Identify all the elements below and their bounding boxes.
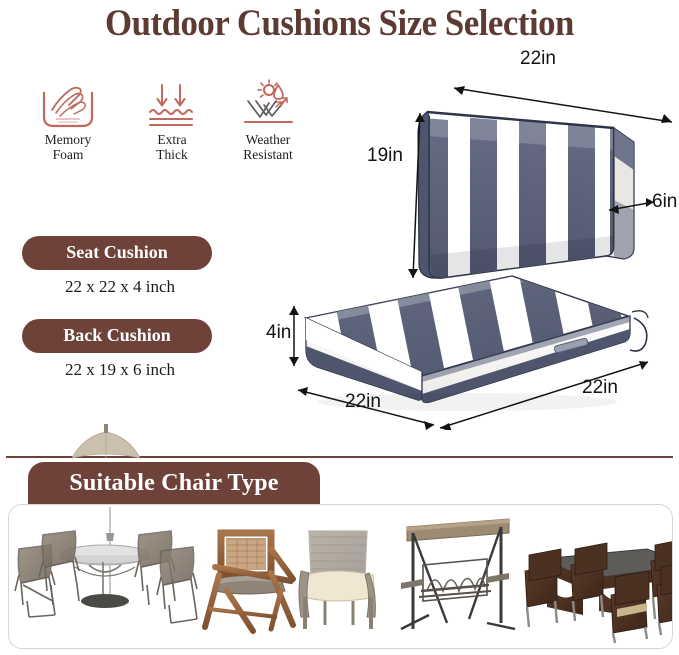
size-list: Seat Cushion 22 x 22 x 4 inch Back Cushi… [22,236,232,380]
dimension-label-seat-width: 22in [345,391,381,413]
canopy-porch-swing [401,519,515,629]
patio-dining-set-with-umbrella [15,507,197,623]
infographic-page: Outdoor Cushions Size Selection Memory F… [0,0,679,655]
feature-label: Memory Foam [18,132,118,162]
dimension-label-seat-depth: 22in [582,377,618,399]
feature-memory-foam: Memory Foam [18,76,118,162]
dimension-label-seat-thickness: 4in [266,322,291,344]
back-cushion-pill: Back Cushion [22,319,212,353]
feature-extra-thick: Extra Thick [122,76,222,162]
extra-thick-icon [122,76,222,132]
chair-illustrations [9,505,672,648]
rattan-dining-table-set [525,539,672,643]
seat-cushion-pill: Seat Cushion [22,236,212,270]
suitable-chair-banner: Suitable Chair Type [28,462,320,504]
cushion-drawing [262,50,679,430]
back-cushion-dimensions: 22 x 19 x 6 inch [22,360,218,380]
feature-label: Extra Thick [122,132,222,162]
dimension-label-back-width: 22in [520,48,556,70]
umbrella-top-decoration [62,420,182,460]
seat-cushion-dimensions: 22 x 22 x 4 inch [22,277,218,297]
chair-type-panel [8,504,673,649]
wood-frame-lounge-chair [205,533,293,631]
product-illustration: 22in 19in 6in 4in 22in 22in [262,50,679,430]
back-cushion-shape [418,112,634,305]
banner-label: Suitable Chair Type [69,470,278,497]
page-title: Outdoor Cushions Size Selection [20,2,658,45]
dimension-label-back-height: 19in [367,145,403,167]
dimension-label-back-depth: 6in [652,191,677,213]
wicker-armchair-with-cushion [299,531,375,629]
memory-foam-icon [18,76,118,132]
